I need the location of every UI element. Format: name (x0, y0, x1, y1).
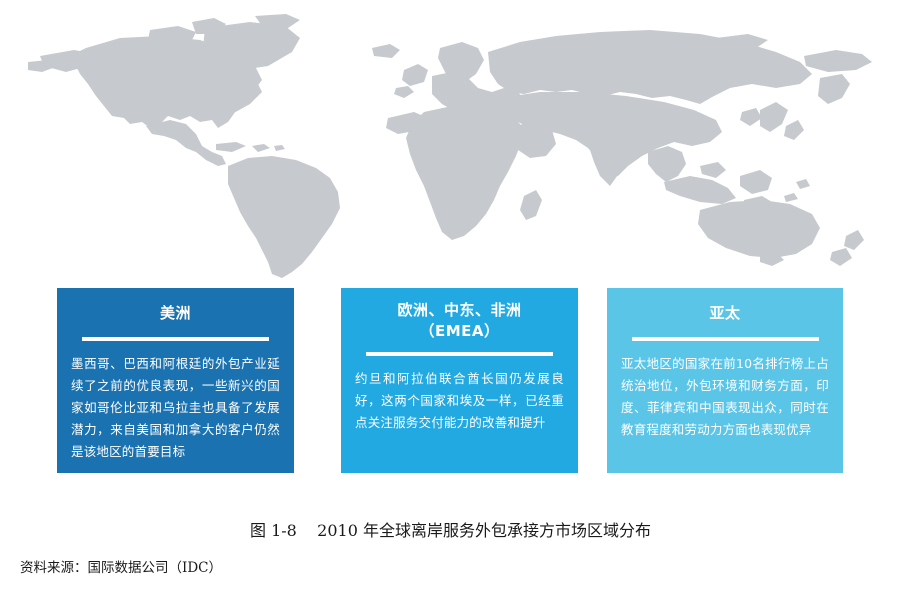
region-panel-americas[interactable]: 美洲 墨西哥、巴西和阿根廷的外包产业延续了之前的优良表现，一些新兴的国家如哥伦比… (57, 288, 294, 473)
panel-title-emea: 欧洲、中东、非洲 （EMEA） (341, 288, 578, 342)
panel-title-americas: 美洲 (57, 288, 294, 324)
region-panel-group: 美洲 墨西哥、巴西和阿根廷的外包产业延续了之前的优良表现，一些新兴的国家如哥伦比… (0, 288, 901, 473)
panel-body-apac: 亚太地区的国家在前10名排行榜上占统治地位，外包环境和财务方面，印度、菲律宾和中… (607, 341, 843, 441)
world-map-icon (0, 0, 901, 285)
figure-source: 资料来源：国际数据公司（IDC） (20, 556, 222, 576)
world-map-figure (0, 0, 901, 285)
region-panel-emea[interactable]: 欧洲、中东、非洲 （EMEA） 约旦和阿拉伯联合酋长国仍发展良好，这两个国家和埃… (341, 288, 578, 473)
panel-title-apac: 亚太 (607, 288, 843, 324)
panel-body-americas: 墨西哥、巴西和阿根廷的外包产业延续了之前的优良表现，一些新兴的国家如哥伦比亚和乌… (57, 341, 294, 463)
figure-caption: 图 1-8 2010 年全球离岸服务外包承接方市场区域分布 (0, 517, 901, 541)
region-panel-apac[interactable]: 亚太 亚太地区的国家在前10名排行榜上占统治地位，外包环境和财务方面，印度、菲律… (607, 288, 843, 473)
panel-body-emea: 约旦和阿拉伯联合酋长国仍发展良好，这两个国家和埃及一样，已经重点关注服务交付能力… (341, 356, 578, 434)
